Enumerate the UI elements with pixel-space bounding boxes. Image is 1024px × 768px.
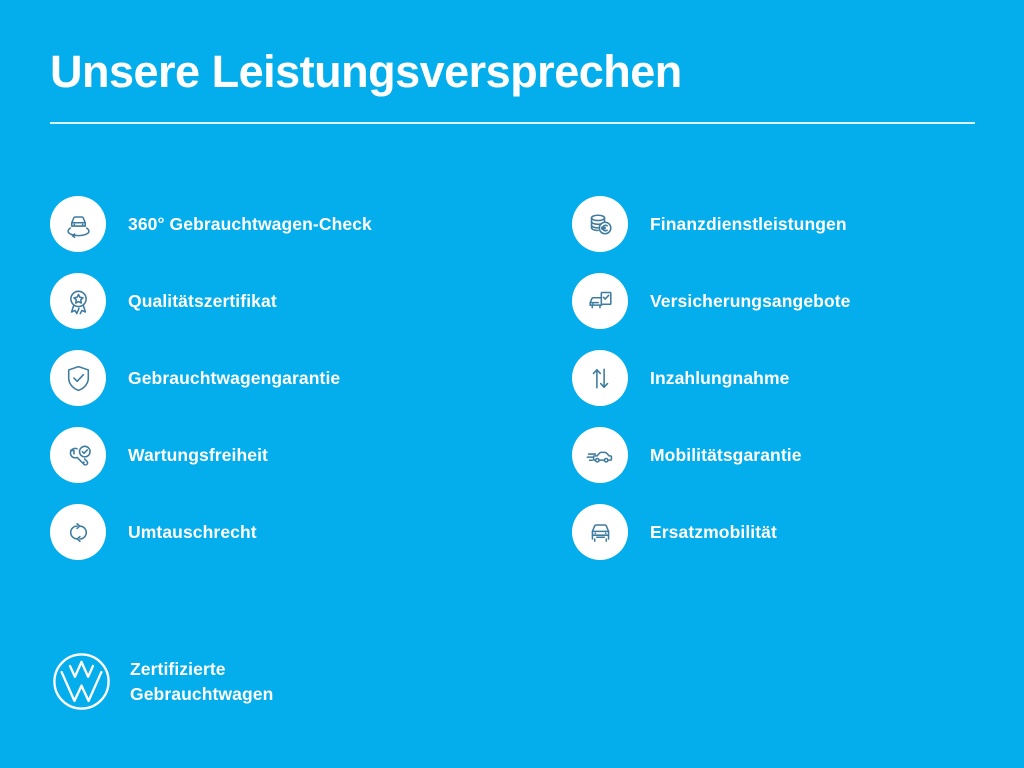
feature-label: Finanzdienstleistungen: [650, 214, 847, 235]
wrench-check-icon: [50, 427, 106, 483]
feature-item-trade-in[interactable]: Inzahlungnahme: [572, 350, 1012, 406]
award-rosette-icon: [50, 273, 106, 329]
feature-item-quality-certificate[interactable]: Qualitätszertifikat: [50, 273, 520, 329]
brand-footer: Zertifizierte Gebrauchtwagen: [50, 650, 273, 713]
feature-label: Versicherungsangebote: [650, 291, 851, 312]
volkswagen-logo: [50, 650, 113, 713]
coins-euro-icon: [572, 196, 628, 252]
feature-label: Qualitätszertifikat: [128, 291, 277, 312]
feature-label: Gebrauchtwagengarantie: [128, 368, 340, 389]
slide-root: Unsere Leistungsversprechen: [0, 0, 1024, 768]
feature-label: Ersatzmobilität: [650, 522, 777, 543]
feature-label: Inzahlungnahme: [650, 368, 789, 389]
car-speed-icon: [572, 427, 628, 483]
feature-item-financial-services[interactable]: Finanzdienstleistungen: [572, 196, 1012, 252]
feature-label: Mobilitätsgarantie: [650, 445, 802, 466]
feature-item-360-check[interactable]: 360° Gebrauchtwagen-Check: [50, 196, 520, 252]
car-front-icon: [572, 504, 628, 560]
features-right-column: Finanzdienstleistungen Versicheru: [572, 196, 1012, 560]
features-left-column: 360° Gebrauchtwagen-Check Qualitätszerti…: [50, 196, 520, 560]
title-divider: [50, 122, 975, 124]
brand-text: Zertifizierte Gebrauchtwagen: [130, 657, 273, 707]
page-title: Unsere Leistungsversprechen: [50, 48, 975, 95]
features-grid: 360° Gebrauchtwagen-Check Qualitätszerti…: [0, 196, 1024, 560]
feature-item-warranty[interactable]: Gebrauchtwagengarantie: [50, 350, 520, 406]
feature-label: 360° Gebrauchtwagen-Check: [128, 214, 372, 235]
feature-item-insurance-offers[interactable]: Versicherungsangebote: [572, 273, 1012, 329]
header: Unsere Leistungsversprechen: [50, 48, 975, 124]
car-document-check-icon: [572, 273, 628, 329]
feature-label: Wartungsfreiheit: [128, 445, 268, 466]
arrows-up-down-icon: [572, 350, 628, 406]
feature-item-mobility-guarantee[interactable]: Mobilitätsgarantie: [572, 427, 1012, 483]
car-360-check-icon: [50, 196, 106, 252]
brand-text-line1: Zertifizierte: [130, 657, 273, 682]
brand-text-line2: Gebrauchtwagen: [130, 682, 273, 707]
feature-item-maintenance-free[interactable]: Wartungsfreiheit: [50, 427, 520, 483]
feature-item-replacement-mobility[interactable]: Ersatzmobilität: [572, 504, 1012, 560]
feature-label: Umtauschrecht: [128, 522, 257, 543]
feature-item-exchange-right[interactable]: Umtauschrecht: [50, 504, 520, 560]
shield-check-icon: [50, 350, 106, 406]
exchange-arrows-icon: [50, 504, 106, 560]
